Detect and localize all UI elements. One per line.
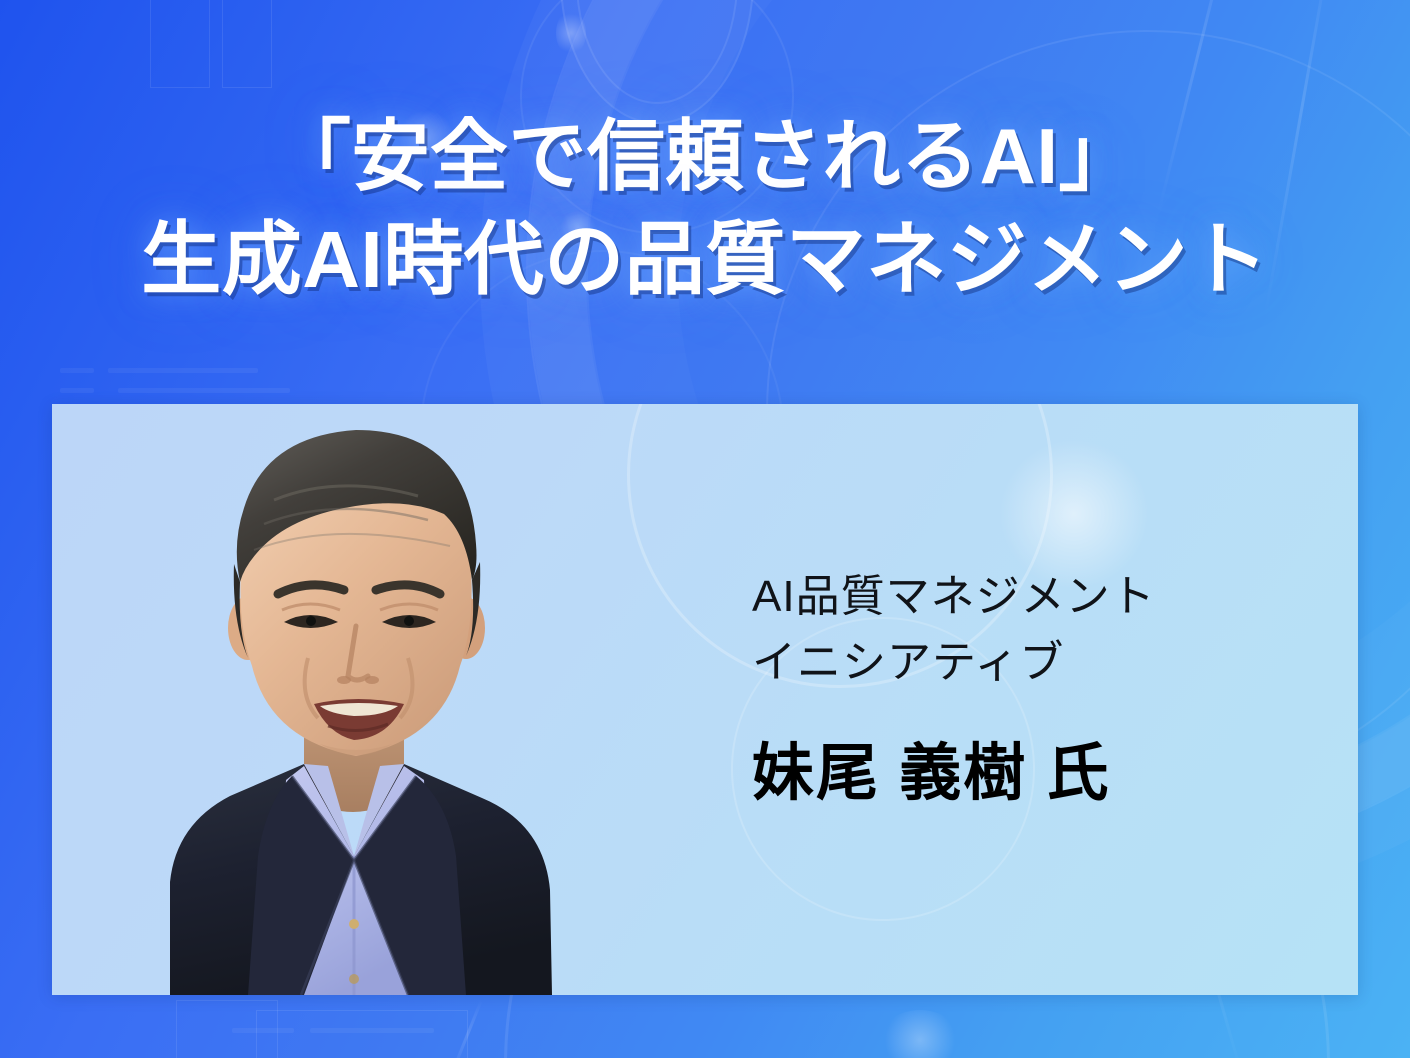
glow-dot-decoration: [880, 1010, 960, 1058]
organization-line-2: イニシアティブ: [752, 630, 1156, 696]
speaker-name: 妹尾 義樹 氏: [752, 736, 1156, 812]
code-line-decoration: [60, 388, 94, 393]
presentation-slide: 「安全で信頼されるAI」 生成AI時代の品質マネジメント: [0, 0, 1410, 1058]
title-line-1: 「安全で信頼されるAI」: [0, 104, 1410, 208]
code-line-decoration: [60, 368, 94, 373]
title-line-2: 生成AI時代の品質マネジメント: [0, 208, 1410, 312]
code-line-decoration: [232, 1028, 294, 1033]
glow-dot-decoration: [556, 10, 586, 56]
speaker-portrait-photo: [52, 404, 692, 995]
code-line-decoration: [310, 1028, 434, 1033]
slide-title: 「安全で信頼されるAI」 生成AI時代の品質マネジメント: [0, 104, 1410, 312]
wireframe-box-icon: [256, 1010, 468, 1058]
wireframe-box-icon: [150, 0, 210, 88]
code-line-decoration: [118, 388, 290, 393]
speaker-panel: AI品質マネジメント イニシアティブ 妹尾 義樹 氏: [52, 404, 1358, 995]
light-streak-decoration: [450, 999, 483, 1058]
wireframe-box-icon: [176, 1000, 278, 1058]
speaker-info: AI品質マネジメント イニシアティブ 妹尾 義樹 氏: [752, 564, 1156, 812]
code-line-decoration: [108, 368, 258, 373]
organization-line-1: AI品質マネジメント: [752, 564, 1156, 630]
wireframe-box-icon: [222, 0, 272, 88]
